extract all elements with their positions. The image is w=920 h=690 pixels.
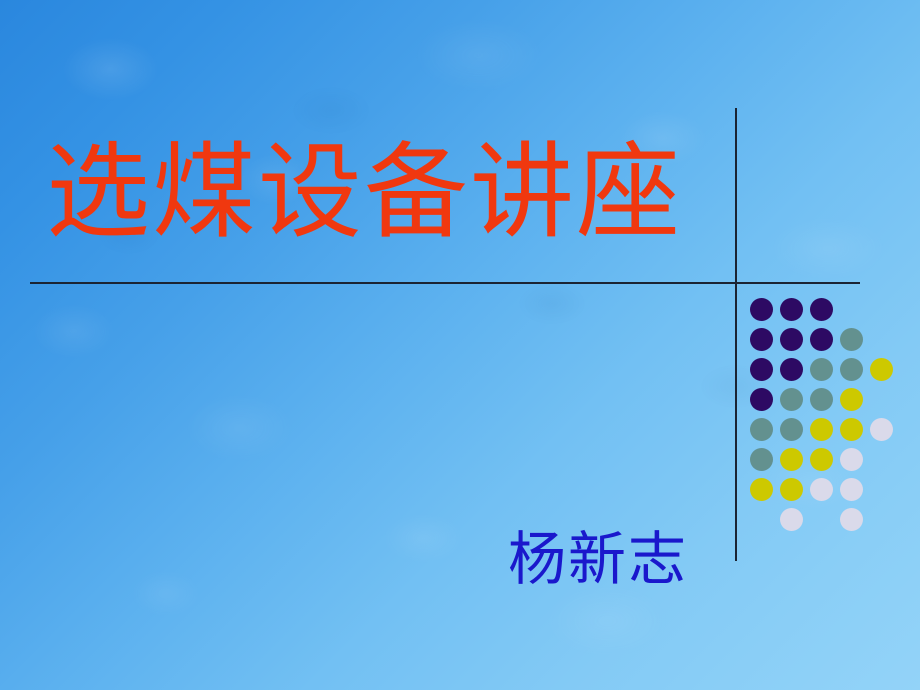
- dot-teal: [750, 448, 773, 471]
- dot-yellow: [810, 418, 833, 441]
- dot-purple: [750, 358, 773, 381]
- slide-title: 选煤设备讲座: [46, 138, 682, 250]
- dot-lavender: [840, 448, 863, 471]
- dot-purple: [780, 328, 803, 351]
- dot-yellow: [750, 478, 773, 501]
- dot-teal: [840, 358, 863, 381]
- dot-yellow: [840, 418, 863, 441]
- dot-purple: [810, 328, 833, 351]
- dot-teal: [780, 418, 803, 441]
- dot-yellow: [870, 358, 893, 381]
- dot-purple: [750, 388, 773, 411]
- dot-yellow: [780, 478, 803, 501]
- dot-purple: [780, 298, 803, 321]
- dot-purple: [780, 358, 803, 381]
- presentation-slide: 选煤设备讲座 杨新志: [0, 0, 920, 690]
- dot-lavender: [780, 508, 803, 531]
- dot-yellow: [780, 448, 803, 471]
- dot-teal: [780, 388, 803, 411]
- vertical-rule: [735, 108, 737, 561]
- dot-yellow: [810, 448, 833, 471]
- dot-teal: [750, 418, 773, 441]
- slide-subtitle-author: 杨新志: [508, 528, 688, 592]
- dot-lavender: [870, 418, 893, 441]
- dot-lavender: [840, 508, 863, 531]
- dot-purple: [750, 298, 773, 321]
- dot-purple: [810, 298, 833, 321]
- dot-grid-decoration: [750, 298, 910, 538]
- dot-purple: [750, 328, 773, 351]
- dot-lavender: [840, 478, 863, 501]
- dot-lavender: [810, 478, 833, 501]
- dot-yellow: [840, 388, 863, 411]
- dot-teal: [810, 388, 833, 411]
- dot-teal: [810, 358, 833, 381]
- dot-teal: [840, 328, 863, 351]
